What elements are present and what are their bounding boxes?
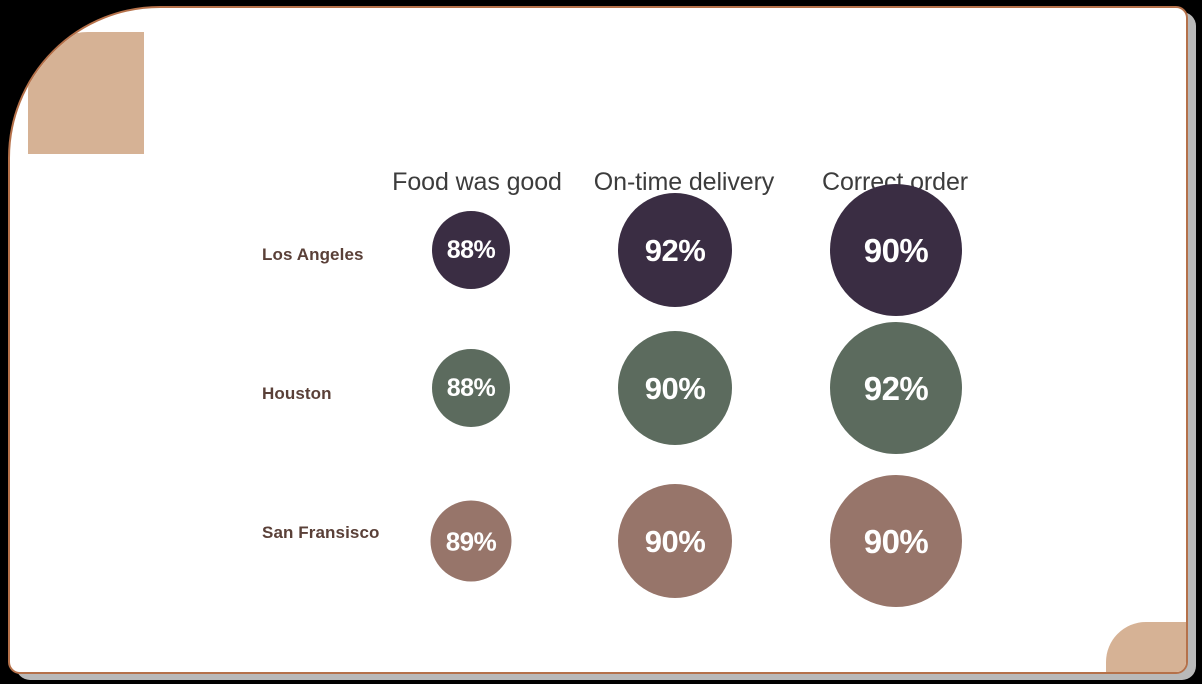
bubble-matrix: Food was goodOn-time deliveryCorrect ord… bbox=[10, 8, 1188, 674]
bubble-value-label: 90% bbox=[864, 525, 929, 558]
row-label-3: San Fransisco bbox=[262, 523, 380, 543]
bubble-value-label: 90% bbox=[864, 234, 929, 267]
bubble-cell[interactable]: 90% bbox=[830, 475, 962, 607]
bubble-value-label: 88% bbox=[447, 238, 496, 263]
column-header-2: On-time delivery bbox=[594, 168, 774, 197]
bubble-cell[interactable]: 92% bbox=[830, 322, 962, 454]
bubble-value-label: 90% bbox=[645, 373, 706, 404]
bubble-value-label: 88% bbox=[447, 376, 496, 401]
bubble-value-label: 89% bbox=[446, 528, 497, 554]
row-label-2: Houston bbox=[262, 384, 332, 404]
bubble-value-label: 90% bbox=[645, 526, 706, 557]
bubble-value-label: 92% bbox=[864, 372, 929, 405]
column-header-1: Food was good bbox=[392, 168, 562, 197]
bubble-cell[interactable]: 88% bbox=[432, 349, 510, 427]
screenshot-stage: Food was goodOn-time deliveryCorrect ord… bbox=[0, 0, 1202, 684]
bubble-cell[interactable]: 92% bbox=[618, 193, 732, 307]
bubble-value-label: 92% bbox=[645, 235, 706, 266]
bubble-cell[interactable]: 90% bbox=[618, 331, 732, 445]
bubble-cell[interactable]: 89% bbox=[431, 501, 512, 582]
bubble-cell[interactable]: 90% bbox=[618, 484, 732, 598]
bubble-cell[interactable]: 88% bbox=[432, 211, 510, 289]
row-label-1: Los Angeles bbox=[262, 245, 364, 265]
chart-card: Food was goodOn-time deliveryCorrect ord… bbox=[8, 6, 1188, 674]
bubble-cell[interactable]: 90% bbox=[830, 184, 962, 316]
